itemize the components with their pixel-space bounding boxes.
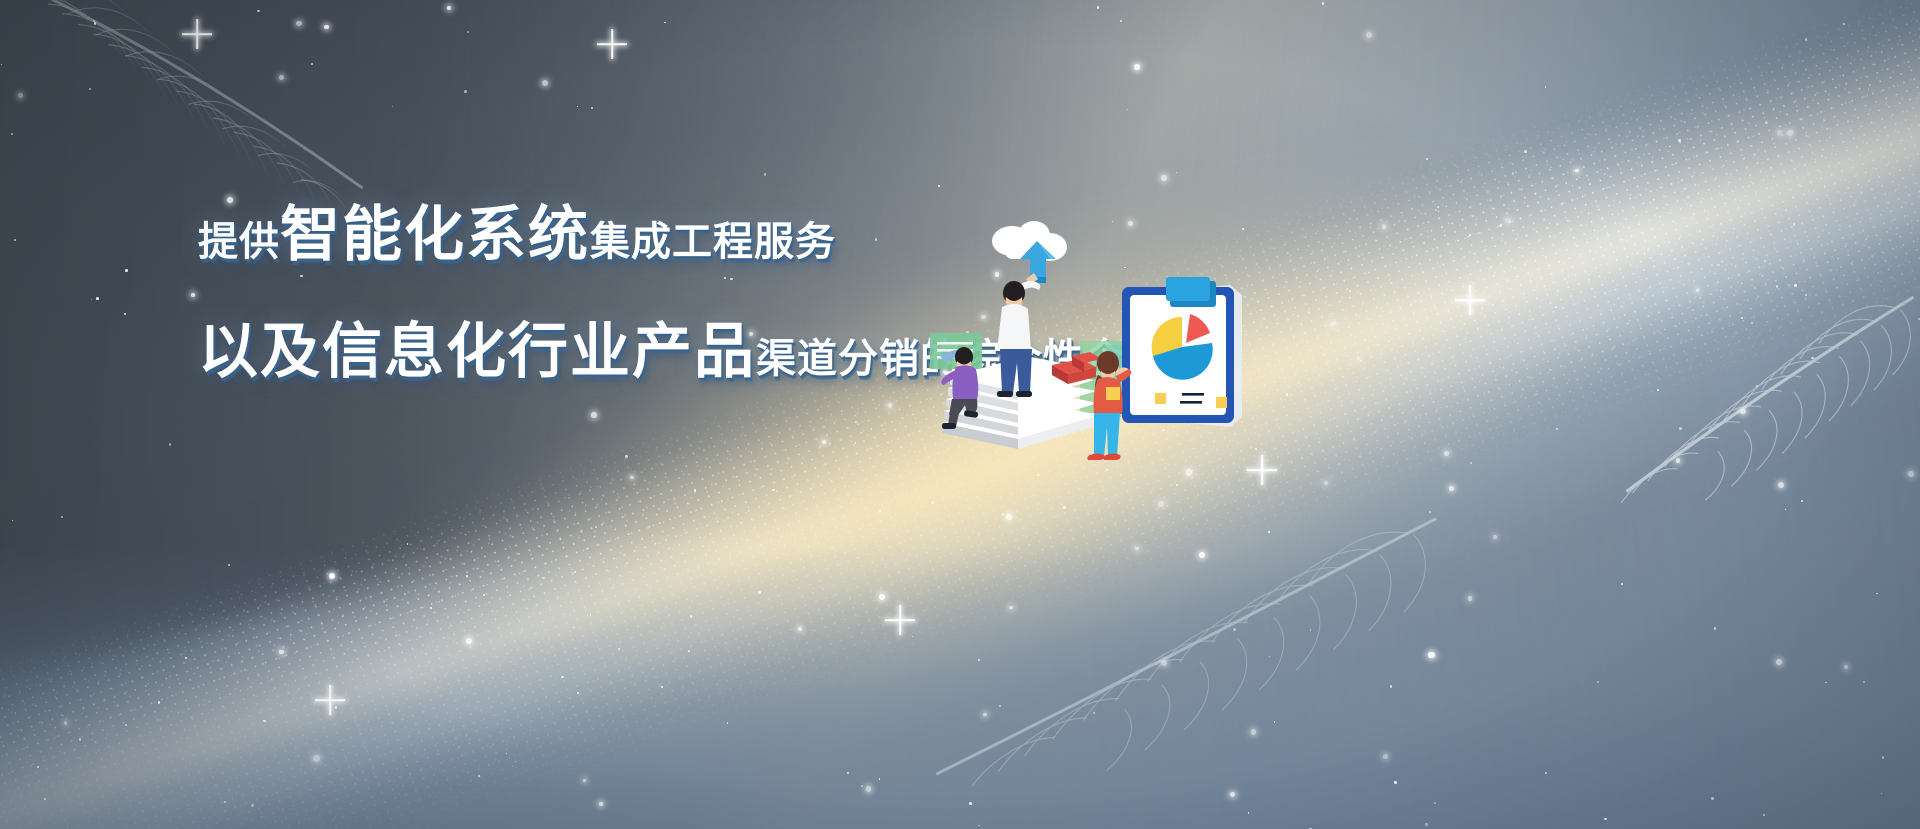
hero-banner: 提供智能化系统集成工程服务 以及信息化行业产品渠道分销的综合性企业 [0, 0, 1920, 829]
banner-vignette [0, 0, 1920, 829]
